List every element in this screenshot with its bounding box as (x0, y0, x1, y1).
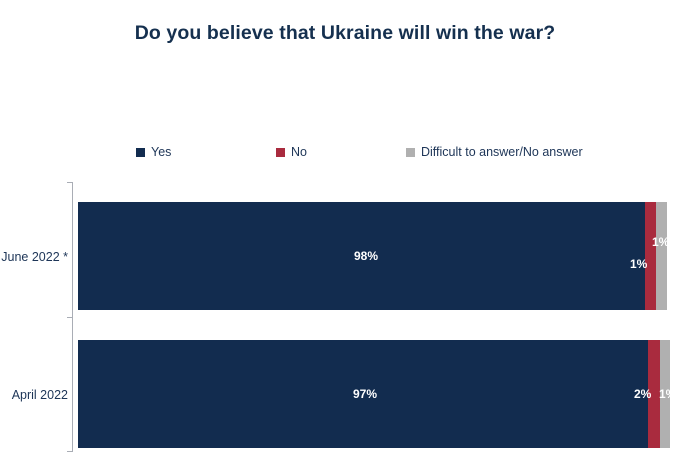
y-axis-line (72, 182, 73, 452)
bar-segment-difficult[interactable] (656, 202, 667, 310)
legend-swatch-difficult-icon (406, 148, 415, 157)
legend-label-no: No (291, 146, 307, 159)
legend-label-yes: Yes (151, 146, 171, 159)
bar-label-difficult: 1% (652, 235, 669, 249)
legend-item-yes[interactable]: Yes (136, 146, 171, 159)
legend-label-difficult: Difficult to answer/No answer (421, 146, 583, 159)
axis-tick (67, 317, 72, 318)
legend-item-no[interactable]: No (276, 146, 307, 159)
chart-container: Do you believe that Ukraine will win the… (0, 0, 690, 452)
bar-label-yes: 98% (354, 249, 378, 263)
bar-label-no: 1% (630, 257, 647, 271)
category-label-june-2022: June 2022 * (0, 250, 68, 264)
legend-swatch-no-icon (276, 148, 285, 157)
legend-swatch-yes-icon (136, 148, 145, 157)
bar-label-no: 2% (634, 387, 651, 401)
plot-area: June 2022 * April 2022 98% 1% 1% 97% 2% … (72, 182, 690, 452)
axis-tick (67, 182, 72, 183)
legend-item-difficult[interactable]: Difficult to answer/No answer (406, 146, 583, 159)
category-label-april-2022: April 2022 (0, 388, 68, 402)
bar-label-difficult: 1% (659, 387, 676, 401)
chart-title: Do you believe that Ukraine will win the… (0, 22, 690, 45)
bar-label-yes: 97% (353, 387, 377, 401)
bar-segment-no[interactable] (645, 202, 656, 310)
